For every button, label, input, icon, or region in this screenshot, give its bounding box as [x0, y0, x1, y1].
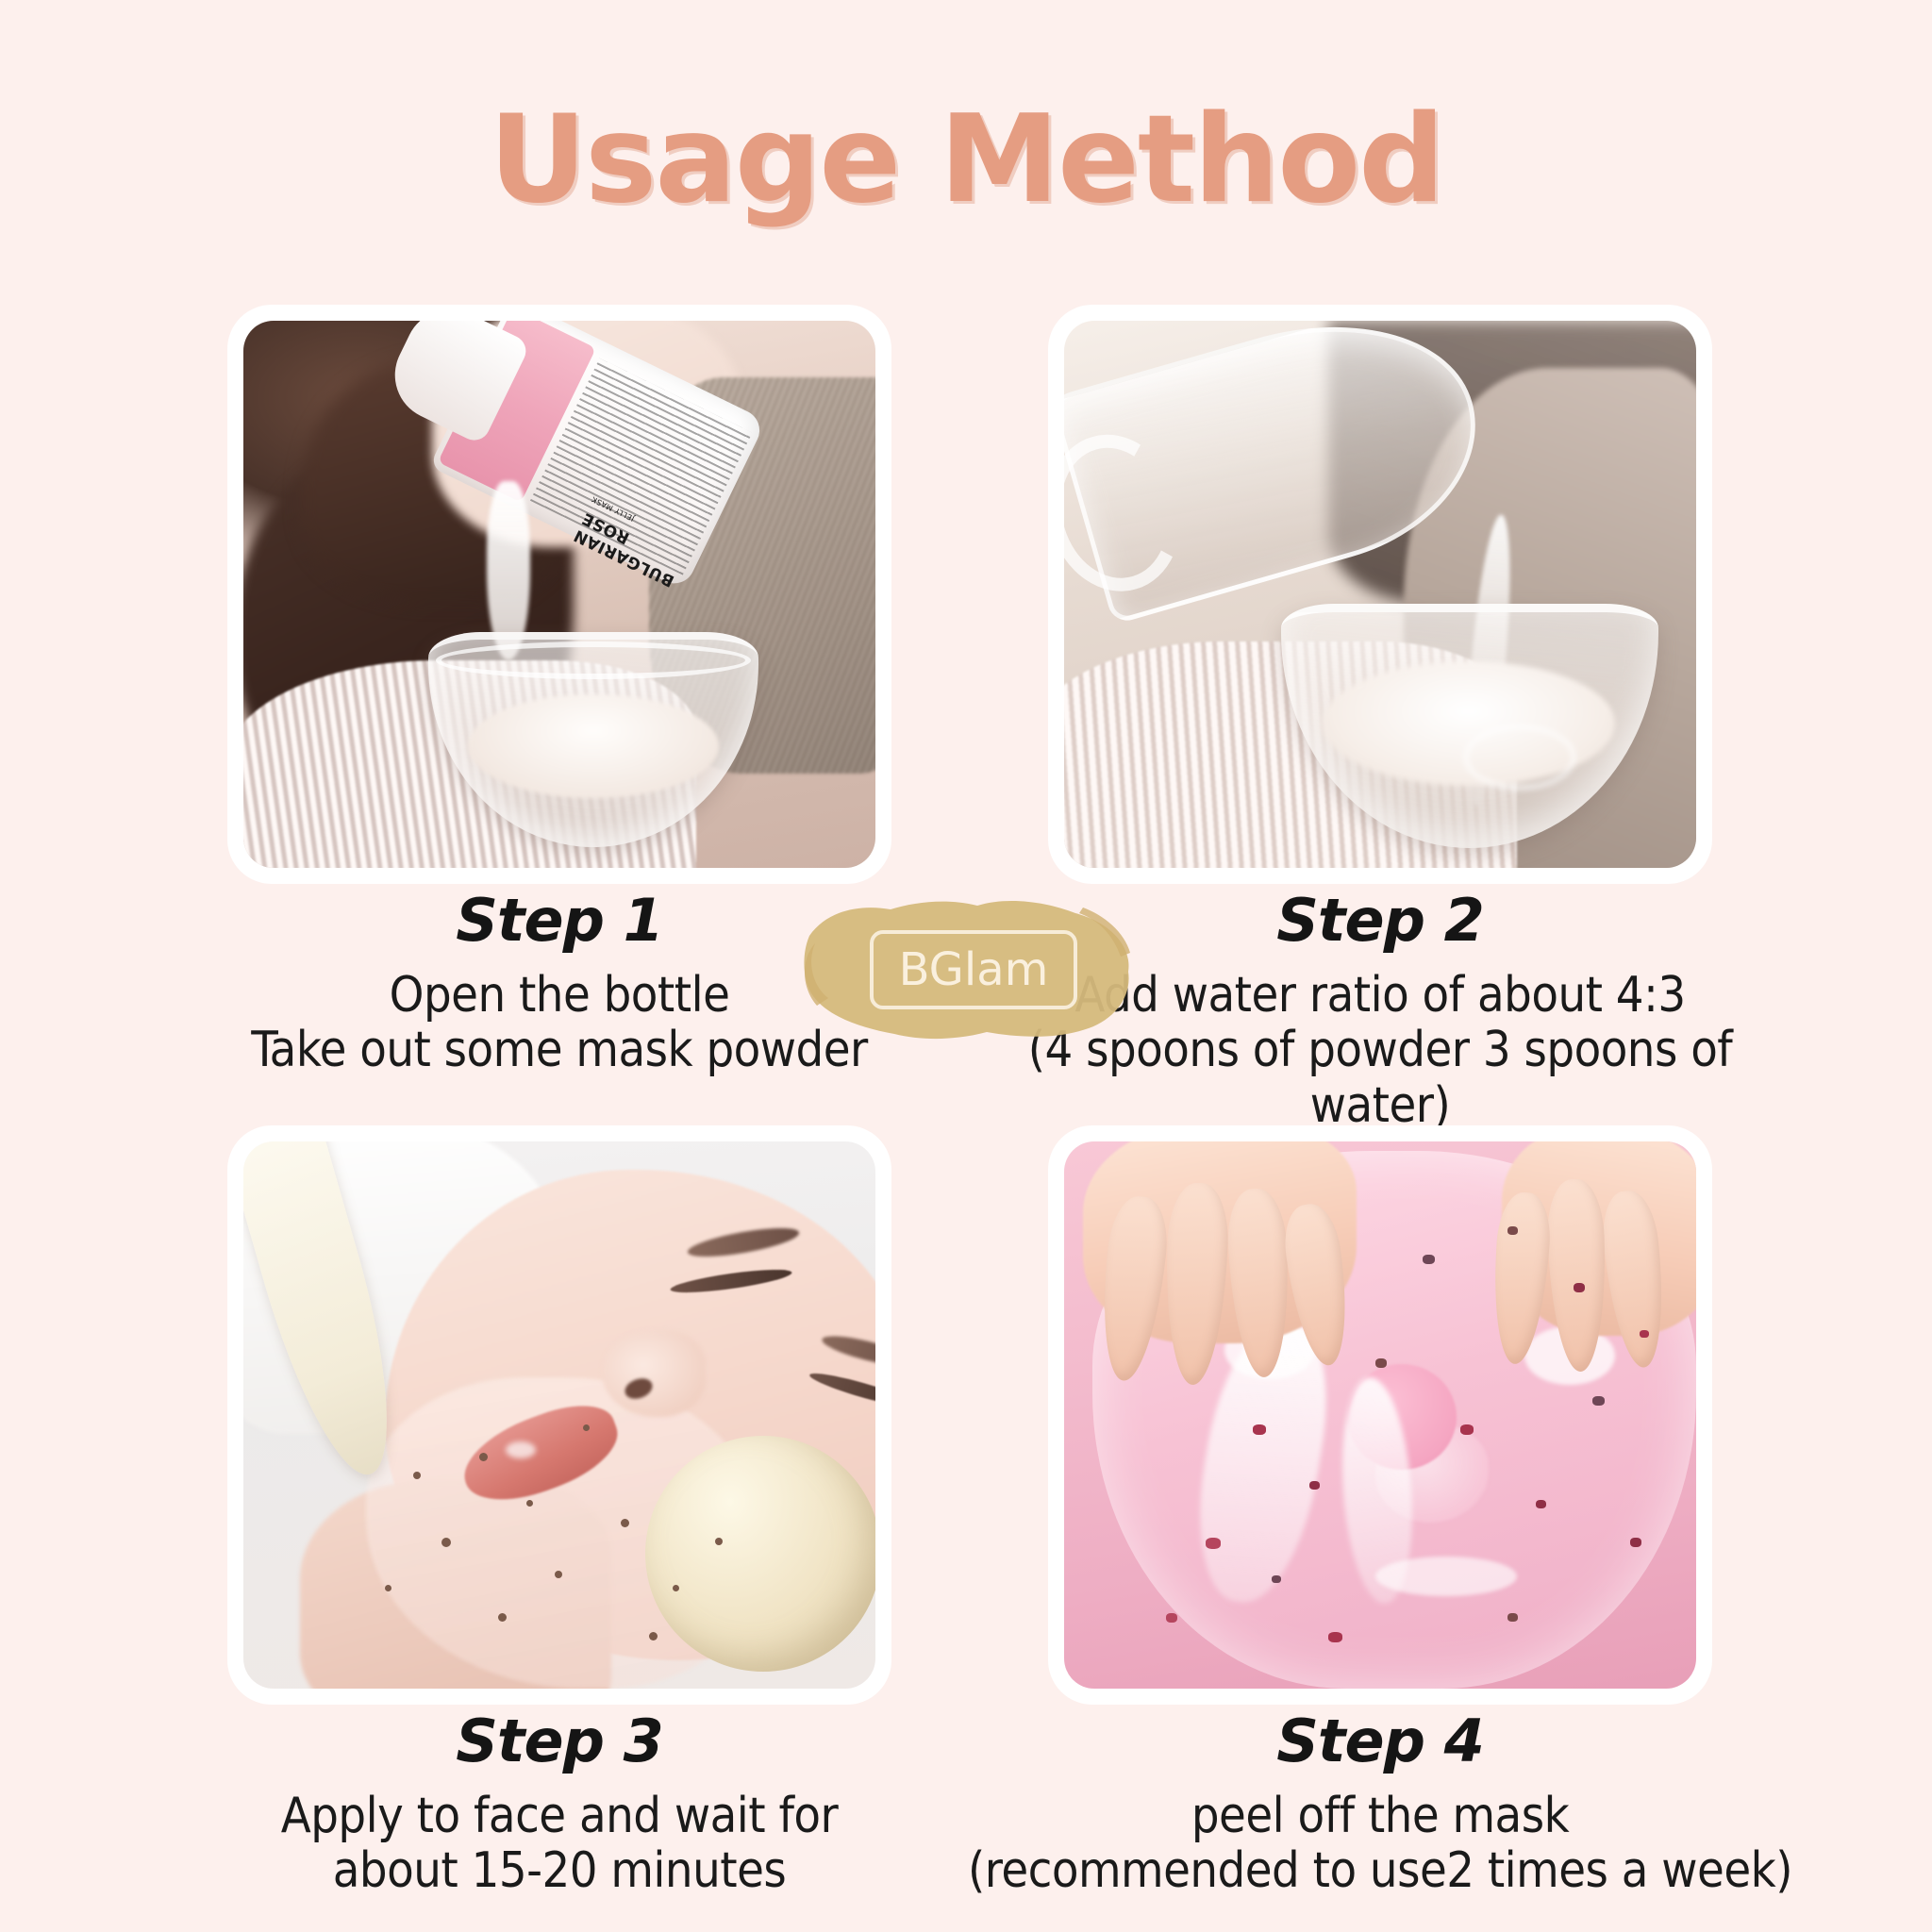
- petal-speck: [498, 1613, 507, 1622]
- rose-petal-flake: [1640, 1330, 1649, 1338]
- step-desc-2-line1: Add water ratio of about 4:3: [1074, 967, 1685, 1024]
- rose-petal-flake: [1166, 1613, 1177, 1623]
- step-desc-4: peel off the mask (recommended to use2 t…: [956, 1789, 1805, 1898]
- rose-petal-flake: [1460, 1424, 1474, 1435]
- rose-petal-flake: [1375, 1358, 1387, 1368]
- glass-bowl-rim: [436, 641, 751, 679]
- step-desc-4-line2: (recommended to use2 times a week): [956, 1843, 1805, 1898]
- petal-speck: [583, 1424, 590, 1431]
- page-title: Usage Method: [0, 100, 1932, 221]
- step-photo-card-4: [1055, 1132, 1706, 1698]
- step-label-4: Step 4: [956, 1709, 1805, 1774]
- rose-petal-flake: [1253, 1424, 1266, 1435]
- step-caption-3: Step 3 Apply to face and wait for about …: [196, 1709, 923, 1899]
- step-desc-3: Apply to face and wait for about 15-20 m…: [196, 1789, 923, 1898]
- step-label-3: Step 3: [196, 1709, 923, 1774]
- step-desc-1-line1: Open the bottle: [390, 967, 730, 1024]
- rose-petal-flake: [1536, 1500, 1546, 1508]
- step-desc-3-line1: Apply to face and wait for: [281, 1788, 839, 1844]
- step-photo-card-2: [1055, 311, 1706, 877]
- powder-in-bowl-2: [1323, 661, 1615, 786]
- petal-speck: [649, 1632, 658, 1641]
- step-photo-3: [243, 1141, 875, 1689]
- step-photo-1: BULGARIAN ROSE JELLY MASK: [243, 321, 875, 868]
- petal-speck: [413, 1472, 421, 1479]
- brand-logo-box: BGlam: [870, 930, 1077, 1009]
- step-cell-2: Step 2 Add water ratio of about 4:3 (4 s…: [1055, 311, 1706, 877]
- petal-speck: [479, 1453, 488, 1461]
- steps-grid: BULGARIAN ROSE JELLY MASK Step 1: [234, 311, 1706, 1802]
- rose-petal-flake: [1309, 1481, 1320, 1490]
- brand-name: BGlam: [899, 947, 1049, 992]
- petal-speck: [385, 1585, 391, 1591]
- step-photo-card-1: BULGARIAN ROSE JELLY MASK: [234, 311, 885, 877]
- step-photo-2: [1064, 321, 1696, 868]
- step-cell-4: Step 4 peel off the mask (recommended to…: [1055, 1132, 1706, 1698]
- rose-petal-flake: [1272, 1575, 1281, 1583]
- rose-petal-flake: [1423, 1255, 1435, 1264]
- rose-petal-flake: [1328, 1632, 1342, 1642]
- rose-petal-flake: [1574, 1283, 1585, 1292]
- step-cell-1: BULGARIAN ROSE JELLY MASK Step 1: [234, 311, 885, 877]
- water-ripple: [1464, 725, 1575, 790]
- petal-speck: [673, 1585, 679, 1591]
- brand-watermark: BGlam: [800, 894, 1140, 1045]
- rose-petal-flake: [1630, 1538, 1641, 1547]
- rose-petal-flake: [1592, 1396, 1605, 1406]
- step-cell-3: Step 3 Apply to face and wait for about …: [234, 1132, 885, 1698]
- step-photo-4: [1064, 1141, 1696, 1689]
- petal-speck: [715, 1538, 723, 1545]
- petal-speck: [441, 1538, 451, 1547]
- petal-speck: [555, 1571, 562, 1578]
- step-desc-3-line2: about 15-20 minutes: [196, 1843, 923, 1898]
- photo3-nose: [602, 1330, 706, 1417]
- powder-in-bowl: [468, 694, 719, 798]
- step-caption-4: Step 4 peel off the mask (recommended to…: [956, 1709, 1805, 1899]
- photo3-lip-highlight: [506, 1441, 536, 1458]
- usage-method-infographic: Usage Method BULGARIAN: [0, 0, 1932, 1932]
- rose-petal-flake: [1206, 1538, 1221, 1549]
- petal-speck: [526, 1500, 533, 1507]
- step-photo-card-3: [234, 1132, 885, 1698]
- petal-speck: [621, 1519, 629, 1527]
- step-desc-4-line1: peel off the mask: [1191, 1788, 1569, 1844]
- mask-mixing-bowl: [645, 1436, 875, 1672]
- rose-petal-flake: [1507, 1226, 1518, 1235]
- rose-petal-flake: [1507, 1613, 1518, 1622]
